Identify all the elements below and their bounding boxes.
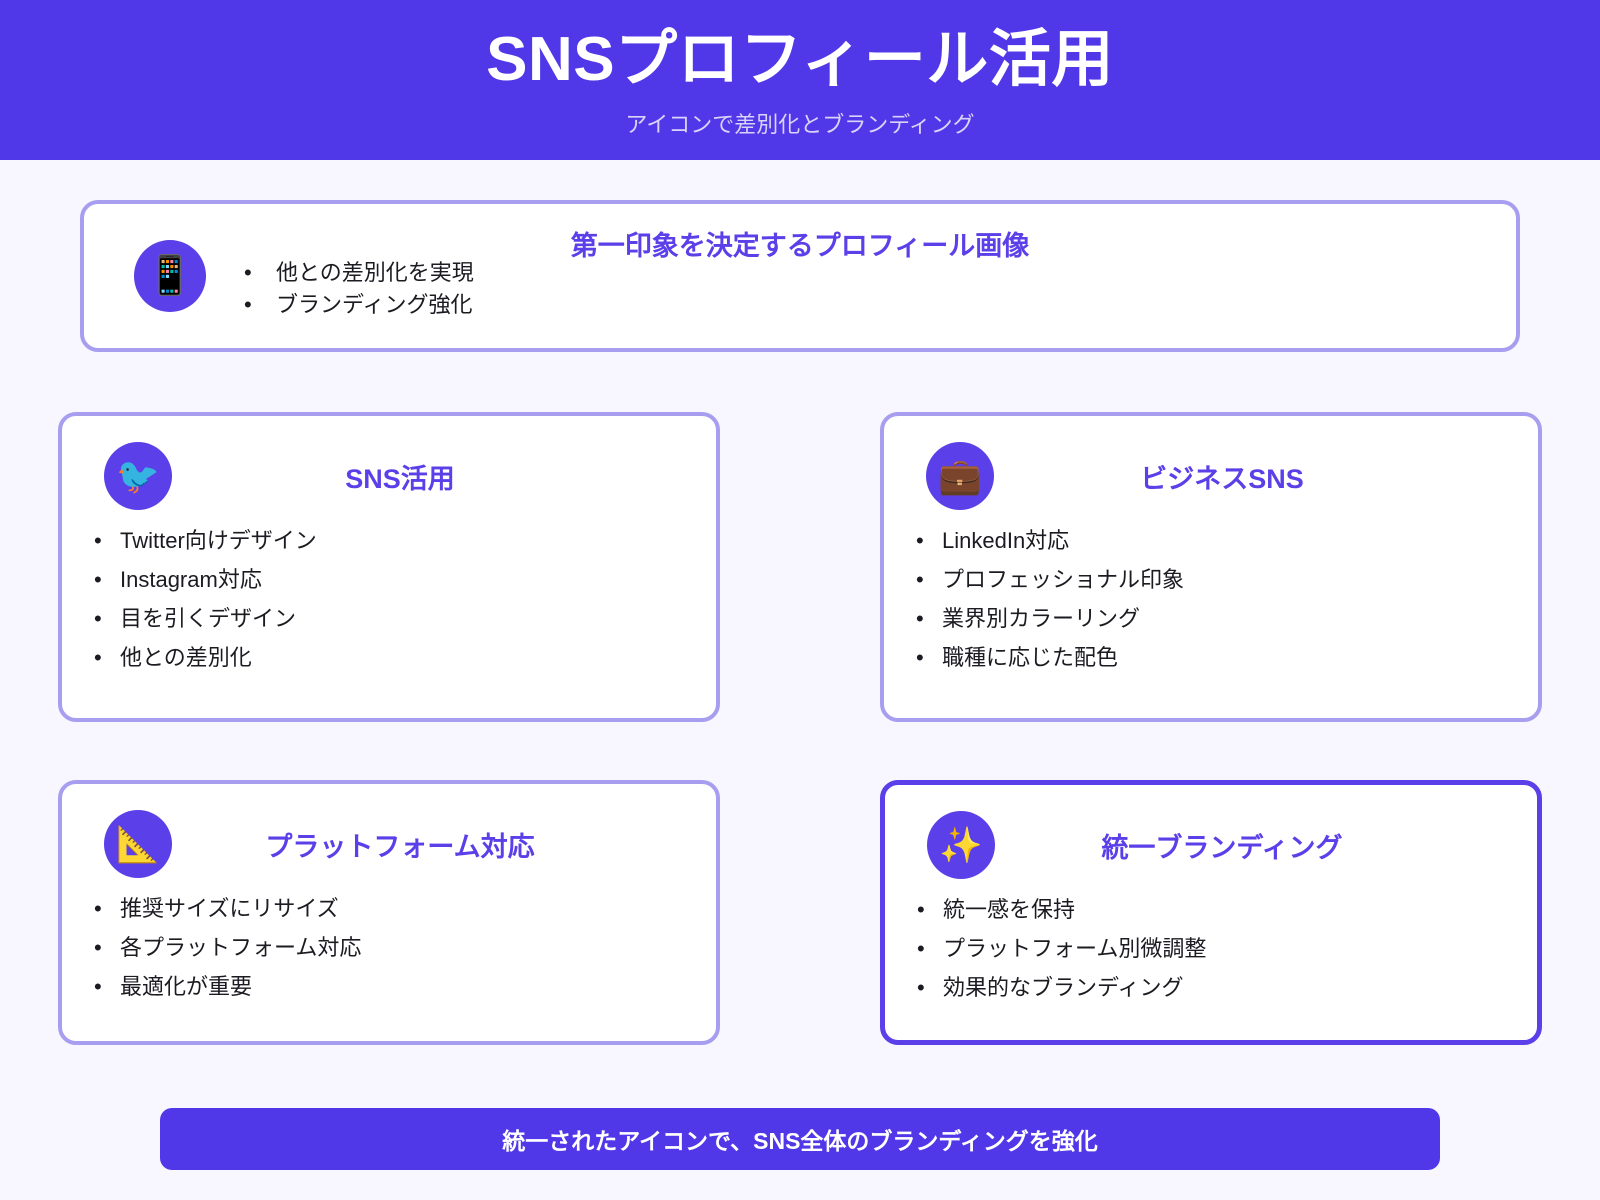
list-item-label: 目を引くデザイン — [120, 608, 296, 630]
card-header: 💼 ビジネスSNS — [910, 442, 1512, 510]
hero-bullet-list: •他との差別化を実現 •ブランディング強化 — [244, 257, 474, 321]
card-bullet-list: •LinkedIn対応 •プロフェッショナル印象 •業界別カラーリング •職種に… — [910, 530, 1512, 669]
list-item: •LinkedIn対応 — [916, 530, 1512, 552]
bullet-marker: • — [917, 899, 943, 921]
list-item: •Instagram対応 — [94, 569, 690, 591]
list-item: •Twitter向けデザイン — [94, 530, 690, 552]
sparkles-icon: ✨ — [927, 811, 995, 879]
triangular-ruler-icon: 📐 — [104, 810, 172, 878]
list-item: •推奨サイズにリサイズ — [94, 898, 690, 920]
footer-area: 統一されたアイコンで、SNS全体のブランディングを強化 — [80, 1108, 1520, 1200]
list-item-label: プラットフォーム別微調整 — [943, 938, 1206, 960]
list-item-label: Twitter向けデザイン — [120, 530, 317, 552]
hero-card-title: 第一印象を決定するプロフィール画像 — [84, 224, 1516, 263]
bullet-marker: • — [244, 289, 276, 321]
card-platform-taiou[interactable]: 📐 プラットフォーム対応 •推奨サイズにリサイズ •各プラットフォーム対応 •最… — [58, 780, 720, 1045]
page-subtitle: アイコンで差別化とブランディング — [625, 107, 974, 139]
card-title: SNS活用 — [172, 457, 690, 496]
list-item-label: 推奨サイズにリサイズ — [120, 898, 339, 920]
card-header: 🐦 SNS活用 — [88, 442, 690, 510]
header-banner: SNSプロフィール活用 アイコンで差別化とブランディング — [0, 0, 1600, 160]
bullet-marker: • — [917, 977, 943, 999]
card-header: 📐 プラットフォーム対応 — [88, 810, 690, 878]
list-item-label: 職種に応じた配色 — [942, 647, 1118, 669]
list-item-label: 統一感を保持 — [943, 899, 1075, 921]
card-title: プラットフォーム対応 — [172, 825, 690, 864]
card-grid: 🐦 SNS活用 •Twitter向けデザイン •Instagram対応 •目を引… — [58, 412, 1542, 1045]
card-bullet-list: •推奨サイズにリサイズ •各プラットフォーム対応 •最適化が重要 — [88, 898, 690, 998]
card-title: ビジネスSNS — [994, 457, 1512, 496]
list-item: •業界別カラーリング — [916, 608, 1512, 630]
bullet-marker: • — [94, 608, 120, 630]
list-item: •効果的なブランディング — [917, 977, 1511, 999]
list-item-label: ブランディング強化 — [276, 289, 472, 321]
list-item: •統一感を保持 — [917, 899, 1511, 921]
card-bullet-list: •統一感を保持 •プラットフォーム別微調整 •効果的なブランディング — [911, 899, 1511, 999]
footer-text: 統一されたアイコンで、SNS全体のブランディングを強化 — [502, 1122, 1098, 1156]
bullet-marker: • — [916, 569, 942, 591]
list-item: •目を引くデザイン — [94, 608, 690, 630]
list-item: •最適化が重要 — [94, 976, 690, 998]
list-item: •他との差別化 — [94, 647, 690, 669]
footer-banner: 統一されたアイコンで、SNS全体のブランディングを強化 — [160, 1108, 1440, 1170]
list-item-label: プロフェッショナル印象 — [942, 569, 1184, 591]
bullet-marker: • — [94, 898, 120, 920]
list-item-label: 各プラットフォーム対応 — [120, 937, 361, 959]
bullet-marker: • — [94, 647, 120, 669]
bullet-marker: • — [94, 976, 120, 998]
briefcase-icon: 💼 — [926, 442, 994, 510]
card-header: ✨ 統一ブランディング — [911, 811, 1511, 879]
card-sns-katsuyou[interactable]: 🐦 SNS活用 •Twitter向けデザイン •Instagram対応 •目を引… — [58, 412, 720, 722]
list-item-label: 業界別カラーリング — [942, 608, 1140, 630]
content-area: 第一印象を決定するプロフィール画像 📱 •他との差別化を実現 •ブランディング強… — [0, 160, 1600, 1200]
bird-icon: 🐦 — [104, 442, 172, 510]
bullet-marker: • — [916, 647, 942, 669]
list-item: •プロフェッショナル印象 — [916, 569, 1512, 591]
bullet-marker: • — [94, 569, 120, 591]
list-item-label: 効果的なブランディング — [943, 977, 1183, 999]
bullet-marker: • — [916, 608, 942, 630]
page-title: SNSプロフィール活用 — [486, 27, 1114, 92]
hero-card[interactable]: 第一印象を決定するプロフィール画像 📱 •他との差別化を実現 •ブランディング強… — [80, 200, 1520, 352]
list-item-label: LinkedIn対応 — [942, 530, 1069, 552]
list-item-label: 最適化が重要 — [120, 976, 252, 998]
list-item: •各プラットフォーム対応 — [94, 937, 690, 959]
card-business-sns[interactable]: 💼 ビジネスSNS •LinkedIn対応 •プロフェッショナル印象 •業界別カ… — [880, 412, 1542, 722]
slide-root: SNSプロフィール活用 アイコンで差別化とブランディング 第一印象を決定するプロ… — [0, 0, 1600, 1200]
list-item: •職種に応じた配色 — [916, 647, 1512, 669]
card-unified-branding[interactable]: ✨ 統一ブランディング •統一感を保持 •プラットフォーム別微調整 •効果的なブ… — [880, 780, 1542, 1045]
bullet-marker: • — [917, 938, 943, 960]
bullet-marker: • — [94, 937, 120, 959]
card-title: 統一ブランディング — [995, 826, 1511, 865]
list-item-label: Instagram対応 — [120, 569, 262, 591]
list-item: •ブランディング強化 — [244, 289, 474, 321]
bullet-marker: • — [94, 530, 120, 552]
card-bullet-list: •Twitter向けデザイン •Instagram対応 •目を引くデザイン •他… — [88, 530, 690, 669]
bullet-marker: • — [916, 530, 942, 552]
list-item-label: 他との差別化 — [120, 647, 252, 669]
list-item: •プラットフォーム別微調整 — [917, 938, 1511, 960]
